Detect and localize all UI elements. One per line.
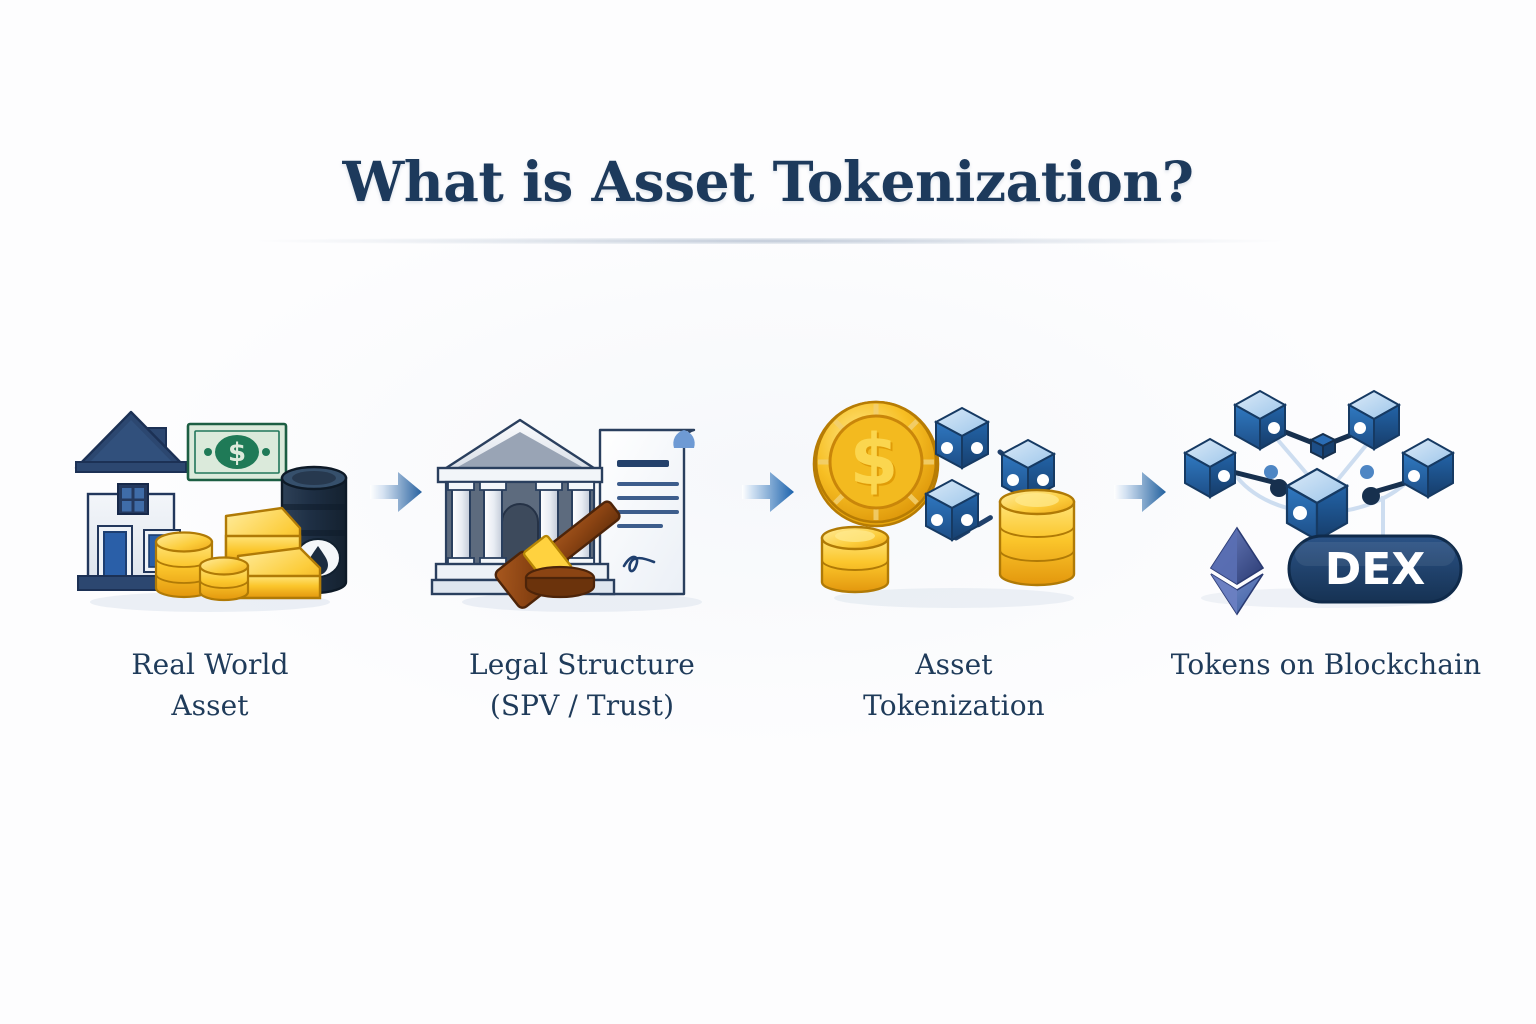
dollar-bill-icon: $: [188, 424, 286, 480]
dex-badge-label: DEX: [1325, 544, 1426, 595]
title-divider: [105, 238, 1435, 244]
stage-asset-tokenization: $ $: [804, 368, 1104, 727]
dollar-coin-icon: $ $: [814, 402, 938, 526]
page-title: What is Asset Tokenization?: [0, 152, 1536, 213]
blockchain-cube-icon: [1185, 439, 1235, 497]
arrow-right-icon: [1112, 470, 1168, 514]
infographic-canvas: What is Asset Tokenization?: [0, 0, 1536, 1024]
stage-caption-asset-tokenization: Asset Tokenization: [863, 644, 1045, 727]
flow-arrow-1: [366, 368, 426, 616]
stage-legal-structure: Legal Structure (SPV / Trust): [432, 368, 732, 727]
real-world-asset-icon-group: $: [60, 406, 360, 616]
svg-text:$: $: [850, 419, 899, 501]
gavel-block-icon: [526, 567, 594, 597]
blockchain-cube-icon: [1403, 439, 1453, 497]
tokens-on-blockchain-icon-group: DEX: [1171, 376, 1481, 616]
title-block: What is Asset Tokenization?: [0, 152, 1536, 213]
asset-tokenization-art: $ $: [804, 368, 1104, 616]
stage-caption-tokens-on-blockchain: Tokens on Blockchain: [1171, 644, 1481, 685]
asset-tokenization-icon-group: $ $: [804, 386, 1104, 616]
legal-structure-icon-group: [432, 406, 732, 616]
stage-tokens-on-blockchain: DEX Tokens on Blockchain: [1176, 368, 1476, 685]
blockchain-cube-icon: [1349, 391, 1399, 449]
flow-arrow-2: [738, 368, 798, 616]
blockchain-network-icon: [1185, 391, 1453, 540]
dex-badge[interactable]: DEX: [1289, 536, 1461, 602]
flow-arrow-3: [1110, 368, 1170, 616]
arrow-right-icon: [368, 470, 424, 514]
svg-text:$: $: [228, 438, 246, 468]
tokens-on-blockchain-art: DEX: [1176, 368, 1476, 616]
stage-real-world-asset: $: [60, 368, 360, 727]
blockchain-cube-icon: [1287, 469, 1347, 540]
real-world-asset-art: $: [60, 368, 360, 616]
legal-structure-art: [432, 368, 732, 616]
arrow-right-icon: [740, 470, 796, 514]
process-flow: $: [60, 368, 1476, 708]
blockchain-cube-icon: [1235, 391, 1285, 449]
stage-caption-legal-structure: Legal Structure (SPV / Trust): [469, 644, 695, 727]
stage-caption-real-world-asset: Real World Asset: [131, 644, 288, 727]
